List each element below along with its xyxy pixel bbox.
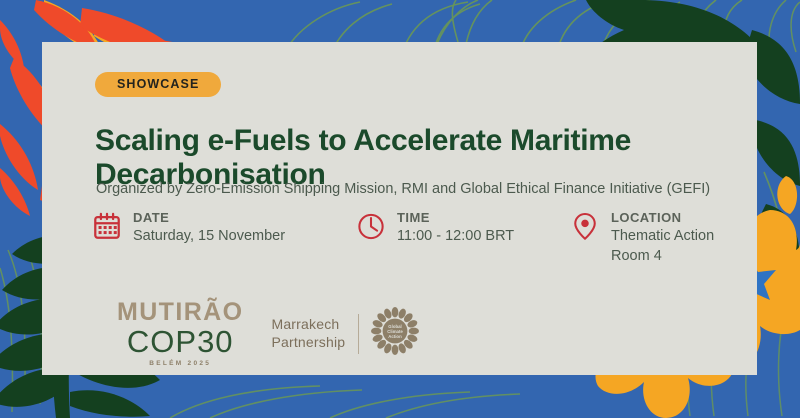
event-meta-row: DATE Saturday, 15 November TIME 11:00 - …	[92, 210, 752, 260]
clock-icon	[356, 211, 386, 243]
meta-item-location: LOCATION Thematic Action Room 4	[570, 210, 752, 266]
cop30-belem-2025-text: BELÉM 2025	[149, 361, 211, 368]
meta-value-date: Saturday, 15 November	[133, 227, 285, 247]
organizer-text: Organized by Zero-Emission Shipping Miss…	[96, 180, 756, 199]
cop30-mutirao-text: MUTIRÃO	[117, 300, 243, 325]
cop30-text: COP30	[127, 326, 234, 357]
calendar-icon	[92, 211, 122, 243]
showcase-badge: SHOWCASE	[95, 72, 221, 97]
cop30-logo: MUTIRÃO COP30 BELÉM 2025	[117, 300, 243, 368]
logo-divider	[358, 314, 359, 354]
marrakech-line-1: Marrakech	[271, 316, 345, 334]
marrakech-partnership-logo: Marrakech Partnership	[271, 307, 419, 360]
meta-item-time: TIME 11:00 - 12:00 BRT	[356, 210, 514, 247]
meta-value-location: Thematic Action Room 4	[611, 227, 752, 266]
location-pin-icon	[570, 211, 600, 243]
meta-item-date: DATE Saturday, 15 November	[92, 210, 285, 247]
marrakech-partnership-text: Marrakech Partnership	[271, 316, 358, 352]
meta-label-date: DATE	[133, 210, 285, 226]
event-poster: SHOWCASE Scaling e-Fuels to Accelerate M…	[0, 0, 800, 418]
meta-label-location: LOCATION	[611, 210, 752, 226]
content-card: SHOWCASE Scaling e-Fuels to Accelerate M…	[42, 42, 757, 375]
emblem-line-3: Action	[389, 334, 403, 339]
logo-row: MUTIRÃO COP30 BELÉM 2025 Marrakech Partn…	[117, 300, 419, 368]
global-climate-action-emblem-icon: Global Climate Action	[371, 307, 419, 360]
meta-label-time: TIME	[397, 210, 514, 226]
marrakech-line-2: Partnership	[271, 334, 345, 352]
meta-value-time: 11:00 - 12:00 BRT	[397, 227, 514, 247]
